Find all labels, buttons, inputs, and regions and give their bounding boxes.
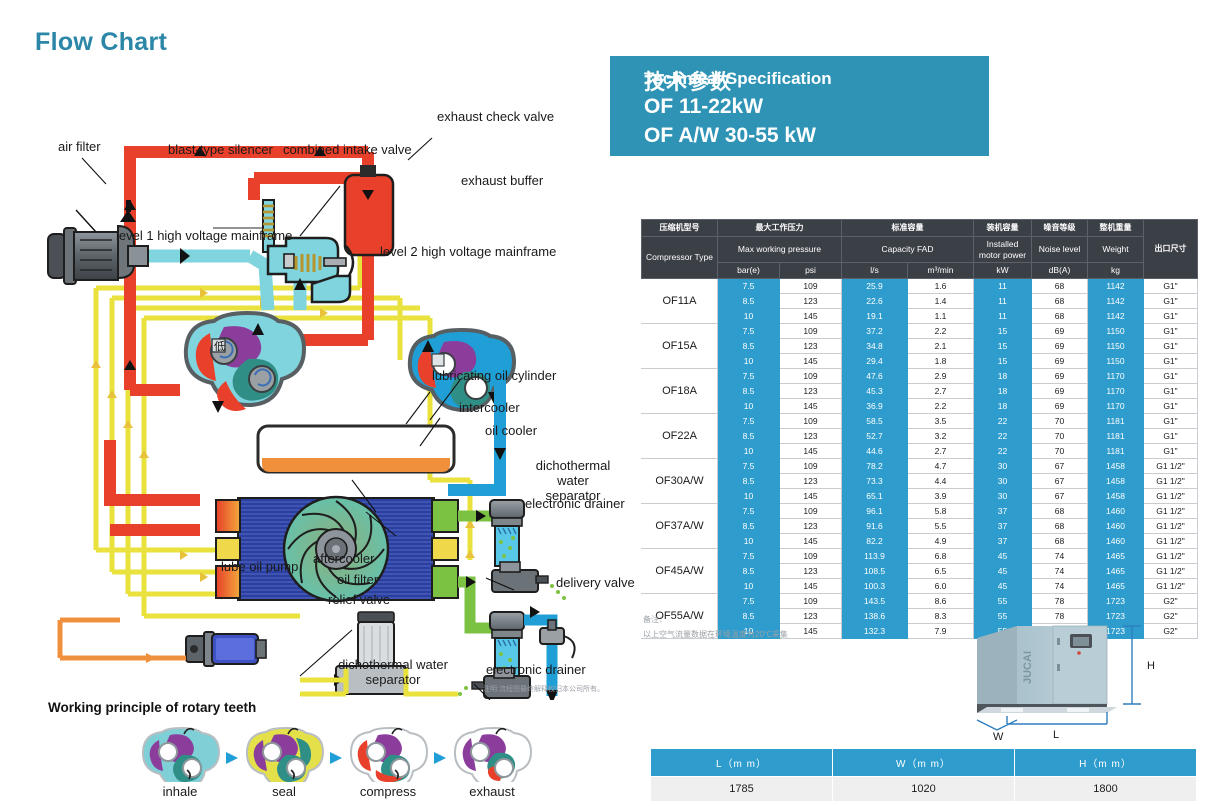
dim-label-l: L <box>1053 729 1059 741</box>
table-row: OF55A/W7.5109143.58.655781723G2" <box>642 593 1198 608</box>
cell-db: 69 <box>1032 323 1088 338</box>
cell-kg: 1460 <box>1088 533 1144 548</box>
rotary-caption-seal: seal <box>244 784 324 799</box>
label-lubricating-oil-cylinder: lubricating oil cylinder <box>432 369 556 384</box>
table-header-en: Compressor Type Max working pressure Cap… <box>642 237 1198 263</box>
cell-kw: 37 <box>974 518 1032 533</box>
cell-ls: 36.9 <box>842 398 908 413</box>
cell-ls: 138.6 <box>842 608 908 623</box>
page-title: Flow Chart <box>35 28 167 57</box>
cell-psi: 109 <box>780 323 842 338</box>
cell-db: 67 <box>1032 458 1088 473</box>
machine-brand: JUCAI <box>1022 651 1034 684</box>
cell-kw: 22 <box>974 428 1032 443</box>
cell-ls: 22.6 <box>842 293 908 308</box>
cell-ls: 108.5 <box>842 563 908 578</box>
cell-model: OF30A/W <box>642 458 718 503</box>
cell-outlet: G1" <box>1144 398 1198 413</box>
cell-kw: 22 <box>974 413 1032 428</box>
cell-ls: 73.3 <box>842 473 908 488</box>
cell-kw: 18 <box>974 383 1032 398</box>
cell-ls: 78.2 <box>842 458 908 473</box>
header-unit-kg: kg <box>1088 263 1144 279</box>
rotary-arrow-2 <box>328 750 344 766</box>
rotary-arrow-3 <box>432 750 448 766</box>
cell-outlet: G1" <box>1144 413 1198 428</box>
cell-db: 69 <box>1032 383 1088 398</box>
label-lube-oil-pump: lube oil pump <box>221 560 298 575</box>
label-level2-mainframe: level 2 high voltage mainframe <box>380 245 556 260</box>
cell-m3min: 2.7 <box>908 443 974 458</box>
specification-table: 压缩机型号 最大工作压力 标准容量 装机容量 噪音等级 整机重量 出口尺寸 Co… <box>641 219 1198 639</box>
cell-db: 68 <box>1032 518 1088 533</box>
cell-db: 68 <box>1032 503 1088 518</box>
table-row: 8.512391.65.537681460G1 1/2" <box>642 518 1198 533</box>
cell-m3min: 3.5 <box>908 413 974 428</box>
table-row: 8.512345.32.718691170G1" <box>642 383 1198 398</box>
cell-outlet: G1" <box>1144 308 1198 323</box>
cell-psi: 123 <box>780 383 842 398</box>
banner-line2: OF 11-22kW <box>644 95 763 119</box>
dim-label-w: W <box>993 731 1004 742</box>
cell-psi: 109 <box>780 413 842 428</box>
cell-ls: 143.5 <box>842 593 908 608</box>
table-row: OF30A/W7.510978.24.730671458G1 1/2" <box>642 458 1198 473</box>
banner-en-title: Technical Specification <box>644 69 832 89</box>
cell-psi: 123 <box>780 473 842 488</box>
cell-kg: 1150 <box>1088 338 1144 353</box>
table-row: 8.512373.34.430671458G1 1/2" <box>642 473 1198 488</box>
dimension-table: L（m m） W（m m） H（m m） 1785 1020 1800 <box>650 748 1197 802</box>
cell-bar: 10 <box>718 443 780 458</box>
rotary-stage-row: inhale seal compress <box>140 726 560 804</box>
label-relief-valve: relief valve <box>328 593 390 608</box>
cell-outlet: G1 1/2" <box>1144 473 1198 488</box>
dim-header-h: H（m m） <box>1015 749 1197 777</box>
table-row: OF45A/W7.5109113.96.845741465G1 1/2" <box>642 548 1198 563</box>
cell-kg: 1170 <box>1088 368 1144 383</box>
cell-ls: 91.6 <box>842 518 908 533</box>
cell-ls: 29.4 <box>842 353 908 368</box>
cell-model: OF45A/W <box>642 548 718 593</box>
svg-text:低: 低 <box>214 340 225 353</box>
cell-outlet: G1" <box>1144 383 1198 398</box>
rotary-principle-title: Working principle of rotary teeth <box>48 700 256 715</box>
spec-banner: 技术参数 Technical Specification OF 11-22kW … <box>610 56 989 156</box>
cell-psi: 145 <box>780 533 842 548</box>
cell-psi: 145 <box>780 488 842 503</box>
cell-psi: 109 <box>780 278 842 293</box>
cell-outlet: G1" <box>1144 443 1198 458</box>
label-oil-cooler: oil cooler <box>485 424 537 439</box>
cell-kg: 1723 <box>1088 593 1144 608</box>
cell-db: 70 <box>1032 413 1088 428</box>
label-exhaust-check-valve: exhaust check valve <box>437 110 554 125</box>
cell-psi: 109 <box>780 458 842 473</box>
cell-outlet: G1 1/2" <box>1144 503 1198 518</box>
cell-ls: 44.6 <box>842 443 908 458</box>
cell-ls: 96.1 <box>842 503 908 518</box>
cell-bar: 10 <box>718 533 780 548</box>
cell-kw: 30 <box>974 488 1032 503</box>
cell-kg: 1465 <box>1088 548 1144 563</box>
cell-kw: 30 <box>974 473 1032 488</box>
header-model-cn: 压缩机型号 <box>642 220 718 237</box>
dim-value-w: 1020 <box>833 777 1015 802</box>
cell-kw: 15 <box>974 353 1032 368</box>
cell-bar: 7.5 <box>718 323 780 338</box>
cell-psi: 123 <box>780 293 842 308</box>
cell-kg: 1150 <box>1088 323 1144 338</box>
cell-kw: 37 <box>974 503 1032 518</box>
cell-m3min: 6.8 <box>908 548 974 563</box>
cell-ls: 52.7 <box>842 428 908 443</box>
table-row: 1014529.41.815691150G1" <box>642 353 1198 368</box>
table-header-cn: 压缩机型号 最大工作压力 标准容量 装机容量 噪音等级 整机重量 出口尺寸 <box>642 220 1198 237</box>
table-row: OF15A7.510937.22.215691150G1" <box>642 323 1198 338</box>
cell-kw: 15 <box>974 323 1032 338</box>
cell-ls: 19.1 <box>842 308 908 323</box>
table-row: 10145100.36.045741465G1 1/2" <box>642 578 1198 593</box>
cell-m3min: 2.2 <box>908 323 974 338</box>
table-row: 8.5123108.56.545741465G1 1/2" <box>642 563 1198 578</box>
cell-ls: 45.3 <box>842 383 908 398</box>
cell-kw: 37 <box>974 533 1032 548</box>
cell-kw: 15 <box>974 338 1032 353</box>
header-capacity-en: Capacity FAD <box>842 237 974 263</box>
label-electronic-drainer-bottom: electronic drainer <box>486 663 586 678</box>
rotary-caption-inhale: inhale <box>140 784 220 799</box>
cell-m3min: 8.6 <box>908 593 974 608</box>
header-unit-psi: psi <box>780 263 842 279</box>
cell-kg: 1170 <box>1088 398 1144 413</box>
cell-outlet: G1" <box>1144 338 1198 353</box>
cell-m3min: 2.7 <box>908 383 974 398</box>
cell-outlet: G1" <box>1144 353 1198 368</box>
header-noise-en: Noise level <box>1032 237 1088 263</box>
header-weight-cn: 整机重量 <box>1088 220 1144 237</box>
cell-ls: 25.9 <box>842 278 908 293</box>
cell-kg: 1181 <box>1088 428 1144 443</box>
table-row: 8.512334.82.115691150G1" <box>642 338 1198 353</box>
label-blast-type-silencer: blast-type silencer <box>168 143 273 158</box>
cell-m3min: 4.4 <box>908 473 974 488</box>
cell-kg: 1142 <box>1088 293 1144 308</box>
cell-psi: 123 <box>780 563 842 578</box>
cell-ls: 65.1 <box>842 488 908 503</box>
header-model-en: Compressor Type <box>642 237 718 279</box>
cell-ls: 100.3 <box>842 578 908 593</box>
cell-db: 78 <box>1032 593 1088 608</box>
cell-db: 69 <box>1032 353 1088 368</box>
dim-label-h: H <box>1147 660 1155 672</box>
cell-model: OF18A <box>642 368 718 413</box>
cell-db: 68 <box>1032 278 1088 293</box>
note-block: 备注： 以上空气流量数据在环境温度为20℃采集 <box>643 612 788 642</box>
cell-bar: 7.5 <box>718 548 780 563</box>
flow-diagram: 低 <box>0 60 610 700</box>
cell-outlet: G1 1/2" <box>1144 533 1198 548</box>
header-power-en: Installed motor power <box>974 237 1032 263</box>
header-pressure-en: Max working pressure <box>718 237 842 263</box>
cell-outlet: G1" <box>1144 323 1198 338</box>
cell-bar: 7.5 <box>718 278 780 293</box>
cell-ls: 113.9 <box>842 548 908 563</box>
cell-outlet: G1" <box>1144 428 1198 443</box>
dim-header-row: L（m m） W（m m） H（m m） <box>651 749 1197 777</box>
header-unit-bar: bar(e) <box>718 263 780 279</box>
cell-m3min: 2.9 <box>908 368 974 383</box>
header-unit-m3min: m³/min <box>908 263 974 279</box>
cell-kg: 1170 <box>1088 383 1144 398</box>
cell-bar: 10 <box>718 308 780 323</box>
table-header-units: bar(e) psi l/s m³/min kW dB(A) kg <box>642 263 1198 279</box>
cell-model: OF37A/W <box>642 503 718 548</box>
cell-outlet: G2" <box>1144 593 1198 608</box>
table-row: OF22A7.510958.53.522701181G1" <box>642 413 1198 428</box>
cell-bar: 7.5 <box>718 368 780 383</box>
table-row: 1014536.92.218691170G1" <box>642 398 1198 413</box>
rotary-arrow-1 <box>224 750 240 766</box>
cell-kg: 1150 <box>1088 353 1144 368</box>
cell-db: 74 <box>1032 548 1088 563</box>
cell-db: 74 <box>1032 578 1088 593</box>
header-unit-kw: kW <box>974 263 1032 279</box>
label-combined-intake-valve: combined intake valve <box>283 143 412 158</box>
cell-model: OF15A <box>642 323 718 368</box>
cell-bar: 8.5 <box>718 293 780 308</box>
cell-bar: 10 <box>718 488 780 503</box>
table-row: 1014582.24.937681460G1 1/2" <box>642 533 1198 548</box>
cell-ls: 37.2 <box>842 323 908 338</box>
rotary-stage-inhale: inhale <box>140 726 220 787</box>
cell-db: 68 <box>1032 533 1088 548</box>
rotary-stage-seal: seal <box>244 726 324 787</box>
rotary-stage-exhaust: exhaust <box>452 726 532 787</box>
cell-outlet: G1" <box>1144 278 1198 293</box>
cell-outlet: G1 1/2" <box>1144 488 1198 503</box>
cell-ls: 82.2 <box>842 533 908 548</box>
cell-db: 69 <box>1032 368 1088 383</box>
rotary-stage-compress: compress <box>348 726 428 787</box>
cell-m3min: 3.9 <box>908 488 974 503</box>
cell-psi: 123 <box>780 608 842 623</box>
header-capacity-cn: 标准容量 <box>842 220 974 237</box>
header-noise-cn: 噪音等级 <box>1032 220 1088 237</box>
cell-ls: 132.3 <box>842 623 908 638</box>
table-row: 8.512352.73.222701181G1" <box>642 428 1198 443</box>
cell-kw: 55 <box>974 593 1032 608</box>
cell-bar: 8.5 <box>718 383 780 398</box>
copyright-note: 注明:流程图最终解释权归本公司所有。 <box>483 684 604 694</box>
cell-db: 68 <box>1032 308 1088 323</box>
cell-psi: 145 <box>780 353 842 368</box>
cell-psi: 109 <box>780 503 842 518</box>
label-level1-mainframe: level 1 high voltage mainframe <box>116 229 292 244</box>
label-aftercooler: aftercooler <box>313 552 374 567</box>
cell-db: 69 <box>1032 398 1088 413</box>
cell-kw: 18 <box>974 368 1032 383</box>
cell-kw: 45 <box>974 563 1032 578</box>
table-row: OF37A/W7.510996.15.837681460G1 1/2" <box>642 503 1198 518</box>
cell-db: 69 <box>1032 338 1088 353</box>
cell-bar: 7.5 <box>718 593 780 608</box>
cell-outlet: G1" <box>1144 293 1198 308</box>
cell-psi: 123 <box>780 428 842 443</box>
cell-m3min: 6.5 <box>908 563 974 578</box>
cell-psi: 145 <box>780 443 842 458</box>
cell-m3min: 4.7 <box>908 458 974 473</box>
cell-outlet: G1 1/2" <box>1144 458 1198 473</box>
cell-kg: 1142 <box>1088 308 1144 323</box>
cell-psi: 109 <box>780 548 842 563</box>
cell-kg: 1460 <box>1088 518 1144 533</box>
cell-kw: 22 <box>974 443 1032 458</box>
cell-bar: 8.5 <box>718 563 780 578</box>
cell-m3min: 1.8 <box>908 353 974 368</box>
cell-ls: 47.6 <box>842 368 908 383</box>
dim-header-l: L（m m） <box>651 749 833 777</box>
cell-psi: 123 <box>780 518 842 533</box>
label-intercooler: intercooler <box>459 401 520 416</box>
cell-outlet: G1 1/2" <box>1144 548 1198 563</box>
header-power-cn: 装机容量 <box>974 220 1032 237</box>
cell-bar: 10 <box>718 398 780 413</box>
cell-bar: 8.5 <box>718 518 780 533</box>
cell-outlet: G1" <box>1144 368 1198 383</box>
cell-bar: 10 <box>718 578 780 593</box>
cell-m3min: 5.8 <box>908 503 974 518</box>
cell-db: 67 <box>1032 488 1088 503</box>
cell-m3min: 1.1 <box>908 308 974 323</box>
cell-m3min: 5.5 <box>908 518 974 533</box>
cell-outlet: G1 1/2" <box>1144 578 1198 593</box>
cell-m3min: 3.2 <box>908 428 974 443</box>
cell-kg: 1142 <box>1088 278 1144 293</box>
cell-kg: 1465 <box>1088 563 1144 578</box>
cell-m3min: 1.6 <box>908 278 974 293</box>
header-pressure-cn: 最大工作压力 <box>718 220 842 237</box>
header-unit-db: dB(A) <box>1032 263 1088 279</box>
cell-db: 70 <box>1032 443 1088 458</box>
cell-outlet: G1 1/2" <box>1144 518 1198 533</box>
cell-bar: 8.5 <box>718 338 780 353</box>
cell-psi: 145 <box>780 308 842 323</box>
cell-m3min: 2.2 <box>908 398 974 413</box>
cell-ls: 58.5 <box>842 413 908 428</box>
cell-kg: 1465 <box>1088 578 1144 593</box>
label-oil-filter: oil filter <box>337 573 378 588</box>
cell-m3min: 2.1 <box>908 338 974 353</box>
table-row: OF18A7.510947.62.918691170G1" <box>642 368 1198 383</box>
cell-bar: 7.5 <box>718 458 780 473</box>
cell-bar: 7.5 <box>718 413 780 428</box>
header-weight-en: Weight <box>1088 237 1144 263</box>
header-outlet-cn: 出口尺寸 <box>1144 220 1198 279</box>
cell-psi: 109 <box>780 368 842 383</box>
cell-kg: 1458 <box>1088 458 1144 473</box>
cell-kw: 45 <box>974 578 1032 593</box>
cell-psi: 145 <box>780 623 842 638</box>
table-row: 1014519.11.111681142G1" <box>642 308 1198 323</box>
cell-ls: 34.8 <box>842 338 908 353</box>
banner-line3: OF A/W 30-55 kW <box>644 124 816 148</box>
header-unit-ls: l/s <box>842 263 908 279</box>
cell-psi: 123 <box>780 338 842 353</box>
cell-m3min: 1.4 <box>908 293 974 308</box>
cell-kg: 1458 <box>1088 488 1144 503</box>
machine-illustration: JUCAI H W L <box>955 612 1195 742</box>
cell-kw: 45 <box>974 548 1032 563</box>
label-dichothermal-water-separator-bottom: dichothermal water separator <box>330 658 456 688</box>
cell-kw: 11 <box>974 278 1032 293</box>
dim-value-h: 1800 <box>1015 777 1197 802</box>
cell-model: OF22A <box>642 413 718 458</box>
table-row: OF11A7.510925.91.611681142G1" <box>642 278 1198 293</box>
label-electronic-drainer-top: electronic drainer <box>525 497 625 512</box>
cell-m3min: 6.0 <box>908 578 974 593</box>
table-row: 1014544.62.722701181G1" <box>642 443 1198 458</box>
rotary-caption-compress: compress <box>348 784 428 799</box>
cell-bar: 10 <box>718 353 780 368</box>
cell-kg: 1458 <box>1088 473 1144 488</box>
cell-kw: 11 <box>974 308 1032 323</box>
cell-m3min: 4.9 <box>908 533 974 548</box>
cell-db: 70 <box>1032 428 1088 443</box>
note-line1: 备注： <box>643 612 788 627</box>
dim-value-l: 1785 <box>651 777 833 802</box>
cell-kw: 18 <box>974 398 1032 413</box>
cell-kw: 11 <box>974 293 1032 308</box>
cell-bar: 7.5 <box>718 503 780 518</box>
cell-kg: 1181 <box>1088 413 1144 428</box>
cell-db: 67 <box>1032 473 1088 488</box>
table-row: 1014565.13.930671458G1 1/2" <box>642 488 1198 503</box>
cell-psi: 145 <box>780 578 842 593</box>
table-row: 8.512322.61.411681142G1" <box>642 293 1198 308</box>
label-exhaust-buffer: exhaust buffer <box>461 174 543 189</box>
note-line2: 以上空气流量数据在环境温度为20℃采集 <box>643 627 788 642</box>
cell-psi: 145 <box>780 398 842 413</box>
cell-kw: 30 <box>974 458 1032 473</box>
cell-kg: 1460 <box>1088 503 1144 518</box>
cell-bar: 8.5 <box>718 428 780 443</box>
label-air-filter: air filter <box>58 140 101 155</box>
dim-header-w: W（m m） <box>833 749 1015 777</box>
cell-model: OF11A <box>642 278 718 323</box>
cell-psi: 109 <box>780 593 842 608</box>
cell-outlet: G1 1/2" <box>1144 563 1198 578</box>
cell-db: 68 <box>1032 293 1088 308</box>
rotary-caption-exhaust: exhaust <box>452 784 532 799</box>
cell-kg: 1181 <box>1088 443 1144 458</box>
dim-value-row: 1785 1020 1800 <box>651 777 1197 802</box>
cell-db: 74 <box>1032 563 1088 578</box>
label-delivery-valve: delivery valve <box>556 576 635 591</box>
cell-bar: 8.5 <box>718 473 780 488</box>
